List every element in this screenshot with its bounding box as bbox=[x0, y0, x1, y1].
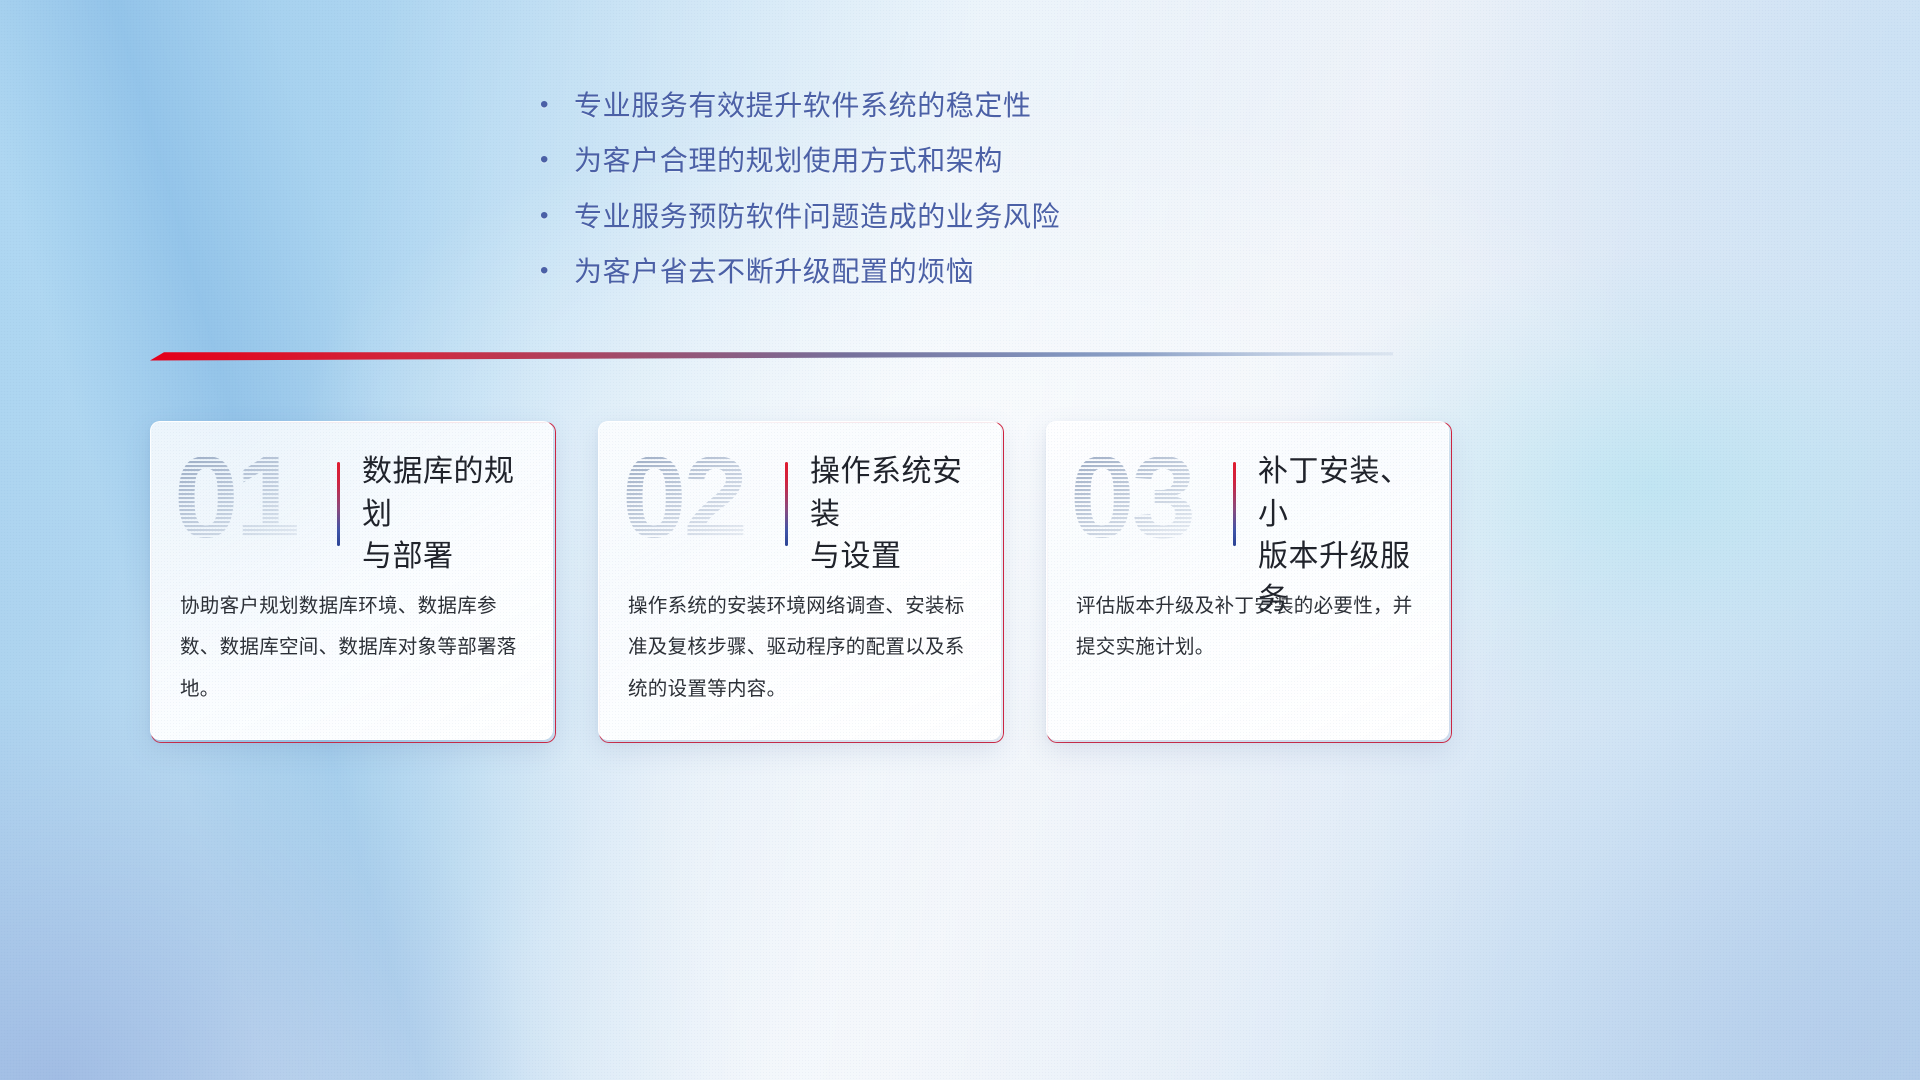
bullet-text: 为客户合理的规划使用方式和架构 bbox=[574, 143, 1180, 178]
card-title: 操作系统安装 与设置 bbox=[810, 451, 987, 579]
card-description: 协助客户规划数据库环境、数据库参数、数据库空间、数据库对象等部署落地。 bbox=[180, 586, 527, 710]
benefits-bullet-list: • 专业服务有效提升软件系统的稳定性 • 为客户合理的规划使用方式和架构 • 专… bbox=[540, 88, 1180, 309]
card-title-line-1: 操作系统安装 bbox=[810, 451, 987, 536]
divider-wedge-icon bbox=[150, 346, 1393, 364]
list-item: • 专业服务有效提升软件系统的稳定性 bbox=[540, 88, 1180, 123]
bullet-text: 为客户省去不断升级配置的烦恼 bbox=[574, 254, 1180, 289]
list-item: • 为客户省去不断升级配置的烦恼 bbox=[540, 254, 1180, 289]
svg-text:03: 03 bbox=[1070, 445, 1193, 557]
list-item: • 专业服务预防软件问题造成的业务风险 bbox=[540, 199, 1180, 234]
bullet-marker-icon: • bbox=[540, 259, 574, 283]
bullet-marker-icon: • bbox=[540, 204, 574, 228]
card-divider-bar bbox=[785, 462, 788, 546]
list-item: • 为客户合理的规划使用方式和架构 bbox=[540, 143, 1180, 178]
card-title-line-2: 与部署 bbox=[362, 536, 539, 579]
card-title: 数据库的规划 与部署 bbox=[362, 451, 539, 579]
card-description: 评估版本升级及补丁安装的必要性，并提交实施计划。 bbox=[1076, 586, 1423, 669]
service-card-03[interactable]: 03 补丁安装、小 版本升级服务 评估版本升级及补丁安装的必要性，并提交实施计划… bbox=[1046, 421, 1449, 740]
card-divider-bar bbox=[1233, 462, 1236, 546]
card-number-01-icon: 01 bbox=[174, 445, 322, 557]
card-header: 01 数据库的规划 与部署 bbox=[150, 449, 553, 555]
section-divider bbox=[150, 346, 1393, 364]
bullet-marker-icon: • bbox=[540, 148, 574, 172]
svg-text:02: 02 bbox=[622, 445, 745, 557]
bullet-marker-icon: • bbox=[540, 93, 574, 117]
svg-text:01: 01 bbox=[174, 445, 298, 557]
card-number-03-icon: 03 bbox=[1070, 445, 1218, 557]
card-header: 03 补丁安装、小 版本升级服务 bbox=[1046, 449, 1449, 555]
card-title-line-2: 与设置 bbox=[810, 536, 987, 579]
service-card-01[interactable]: 01 数据库的规划 与部署 协助客户规划数据库环境、数据库参数、数据库空间、数据… bbox=[150, 421, 553, 740]
bullet-text: 专业服务有效提升软件系统的稳定性 bbox=[574, 88, 1180, 123]
card-description: 操作系统的安装环境网络调查、安装标准及复核步骤、驱动程序的配置以及系统的设置等内… bbox=[628, 586, 975, 710]
bullet-text: 专业服务预防软件问题造成的业务风险 bbox=[574, 199, 1180, 234]
card-header: 02 操作系统安装 与设置 bbox=[598, 449, 1001, 555]
card-title-line-1: 补丁安装、小 bbox=[1258, 451, 1435, 536]
card-number-02-icon: 02 bbox=[622, 445, 770, 557]
card-divider-bar bbox=[337, 462, 340, 546]
card-title-line-1: 数据库的规划 bbox=[362, 451, 539, 536]
service-cards-row: 01 数据库的规划 与部署 协助客户规划数据库环境、数据库参数、数据库空间、数据… bbox=[150, 421, 1750, 741]
service-card-02[interactable]: 02 操作系统安装 与设置 操作系统的安装环境网络调查、安装标准及复核步骤、驱动… bbox=[598, 421, 1001, 740]
